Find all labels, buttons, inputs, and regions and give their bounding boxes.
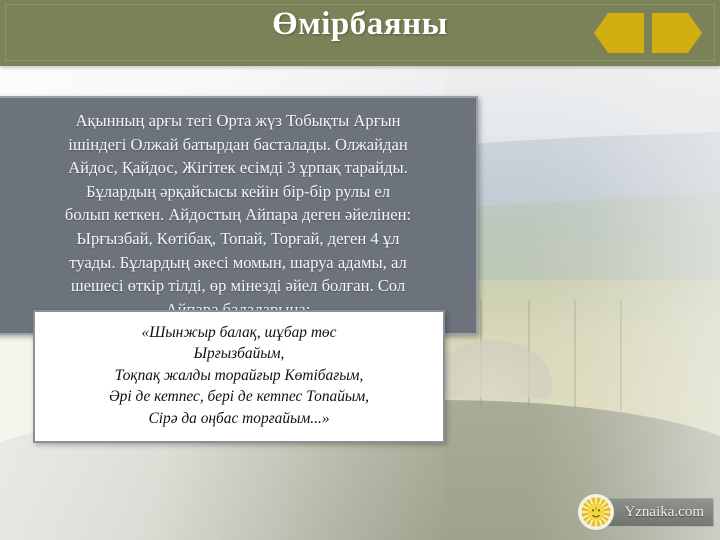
poem-text: «Шынжыр балақ, шұбар төс Ырғызбайым, Тоқ… <box>49 322 429 429</box>
navigation-arrows <box>594 13 702 53</box>
prose-panel: Ақынның арғы тегі Орта жүз Тобықты Арғын… <box>0 96 478 335</box>
watermark-label: Yznaika.com <box>616 504 714 521</box>
arrow-right-icon[interactable] <box>652 13 702 53</box>
poem-panel: «Шынжыр балақ, шұбар төс Ырғызбайым, Тоқ… <box>33 310 445 443</box>
arrow-left-icon[interactable] <box>594 13 644 53</box>
header-bar: Өмірбаяны <box>0 0 720 66</box>
watermark[interactable]: Yznaika.com <box>576 492 714 532</box>
sun-icon <box>576 492 616 532</box>
prose-text: Ақынның арғы тегі Орта жүз Тобықты Арғын… <box>16 109 460 321</box>
slide: Өмірбаяны Ақынның арғы тегі Орта жүз Тоб… <box>0 0 720 540</box>
